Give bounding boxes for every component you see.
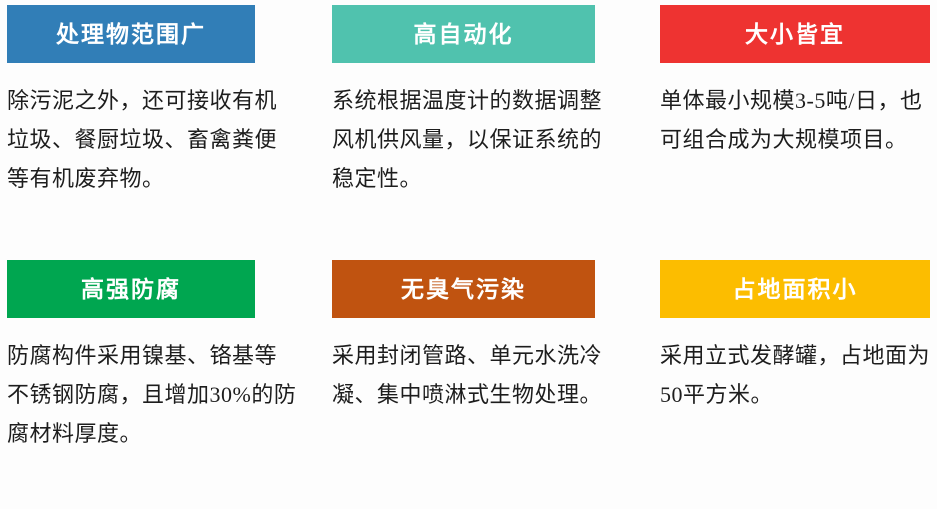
card-banner-any-size: 大小皆宜 xyxy=(660,5,930,63)
feature-card-high-automation: 高自动化 系统根据温度计的数据调整风机供风量，以保证系统的稳定性。 xyxy=(332,5,644,245)
feature-card-small-footprint: 占地面积小 采用立式发酵罐，占地面为50平方米。 xyxy=(660,260,937,509)
card-body-any-size: 单体最小规模3-5吨/日，也可组合成为大规模项目。 xyxy=(660,81,937,159)
card-title-anti-corrosion: 高强防腐 xyxy=(81,278,181,301)
card-title-small-footprint: 占地面积小 xyxy=(733,278,858,301)
feature-card-any-size: 大小皆宜 单体最小规模3-5吨/日，也可组合成为大规模项目。 xyxy=(660,5,937,245)
card-banner-high-automation: 高自动化 xyxy=(332,5,595,63)
feature-card-anti-corrosion: 高强防腐 防腐构件采用镍基、铬基等不锈钢防腐，且增加30%的防腐材料厚度。 xyxy=(7,260,317,509)
card-title-high-automation: 高自动化 xyxy=(414,23,514,46)
card-body-small-footprint: 采用立式发酵罐，占地面为50平方米。 xyxy=(660,336,937,414)
card-title-processing-range: 处理物范围广 xyxy=(56,23,206,46)
card-title-no-odor: 无臭气污染 xyxy=(401,278,526,301)
feature-card-grid: 处理物范围广 除污泥之外，还可接收有机垃圾、餐厨垃圾、畜禽粪便等有机废弃物。 高… xyxy=(0,0,937,509)
card-banner-anti-corrosion: 高强防腐 xyxy=(7,260,255,318)
card-body-processing-range: 除污泥之外，还可接收有机垃圾、餐厨垃圾、畜禽粪便等有机废弃物。 xyxy=(7,81,297,198)
card-body-no-odor: 采用封闭管路、单元水洗冷凝、集中喷淋式生物处理。 xyxy=(332,336,622,414)
feature-card-processing-range: 处理物范围广 除污泥之外，还可接收有机垃圾、餐厨垃圾、畜禽粪便等有机废弃物。 xyxy=(7,5,317,245)
feature-card-no-odor: 无臭气污染 采用封闭管路、单元水洗冷凝、集中喷淋式生物处理。 xyxy=(332,260,644,509)
card-banner-processing-range: 处理物范围广 xyxy=(7,5,255,63)
card-body-high-automation: 系统根据温度计的数据调整风机供风量，以保证系统的稳定性。 xyxy=(332,81,622,198)
card-body-anti-corrosion: 防腐构件采用镍基、铬基等不锈钢防腐，且增加30%的防腐材料厚度。 xyxy=(7,336,297,453)
card-banner-no-odor: 无臭气污染 xyxy=(332,260,595,318)
card-banner-small-footprint: 占地面积小 xyxy=(660,260,930,318)
card-title-any-size: 大小皆宜 xyxy=(745,23,845,46)
